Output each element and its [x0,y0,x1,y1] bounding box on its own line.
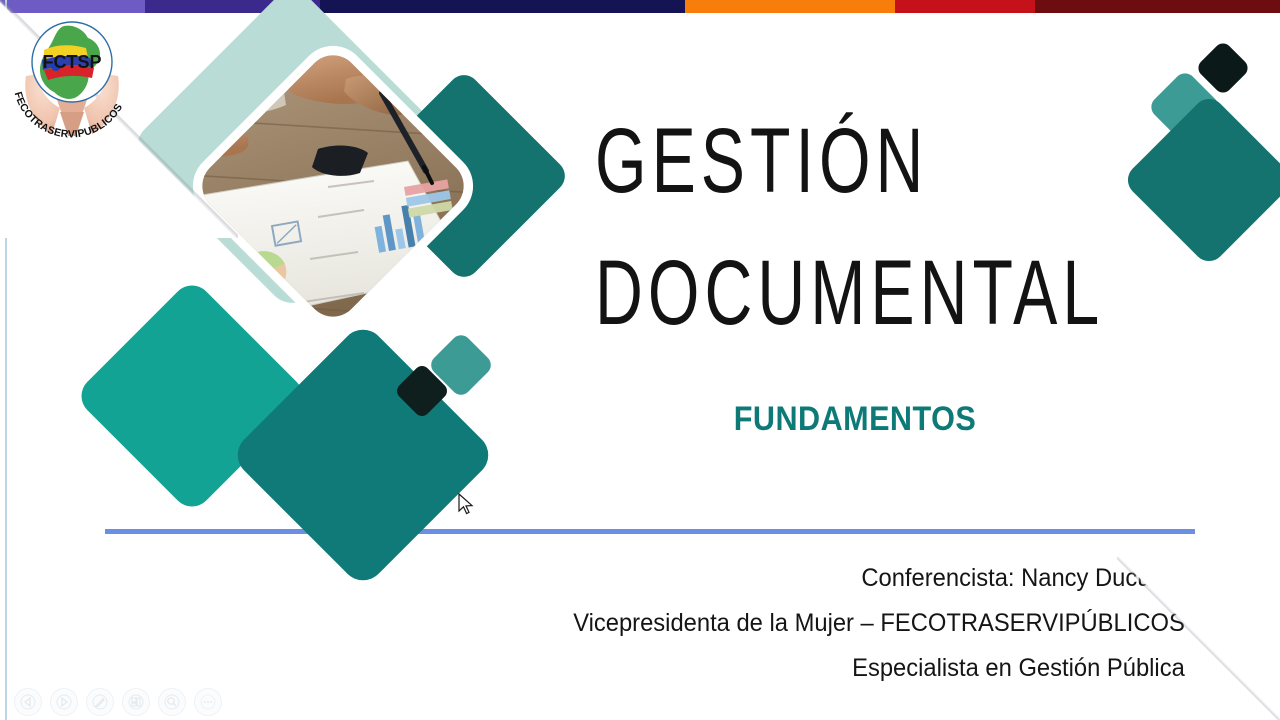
previous-slide-button[interactable] [14,688,42,716]
logo-acronym: FCTSP [42,52,101,72]
magnifier-icon [164,694,180,710]
blue-divider-line [105,529,1195,534]
presentation-toolbar[interactable] [14,688,222,716]
federation-logo: FCTSP FECOTRASERVIPUBLICOS [8,12,136,140]
grid-icon [128,694,144,710]
federation-logo-graphic: FCTSP FECOTRASERVIPUBLICOS [8,12,136,140]
title-line-1: GESTIÓN [595,95,969,227]
speaker-credits: Conferencista: Nancy Ducuara Vicepreside… [541,556,1185,691]
top-color-bar [0,0,1280,13]
title-line-2: DOCUMENTAL [595,227,969,359]
segment-orange [685,0,895,13]
mouse-pointer [456,492,476,523]
chevron-left-icon [20,694,36,710]
next-slide-button[interactable] [50,688,78,716]
segment-darkred [1035,0,1280,13]
pen-tool-button[interactable] [86,688,114,716]
ellipsis-icon [200,694,216,710]
left-edge-rule [5,0,7,720]
presentation-slide: GESTIÓN DOCUMENTAL FUNDAMENTOS Conferenc… [0,0,1280,720]
diamond-dark-teal-top-right [1121,92,1280,267]
cursor-icon [456,492,476,518]
segment-navy [320,0,685,13]
page-title: GESTIÓN DOCUMENTAL [595,95,1115,359]
slide-subtitle: FUNDAMENTOS [621,400,1089,439]
segment-red [895,0,1035,13]
slide-grid-button[interactable] [122,688,150,716]
credit-line-specialty: Especialista en Gestión Pública [573,646,1185,691]
credit-line-speaker: Conferencista: Nancy Ducuara [573,556,1185,601]
pen-icon [92,694,108,710]
play-icon [56,694,72,710]
more-options-button[interactable] [194,688,222,716]
credit-line-role: Vicepresidenta de la Mujer – FECOTRASERV… [573,601,1185,646]
zoom-button[interactable] [158,688,186,716]
